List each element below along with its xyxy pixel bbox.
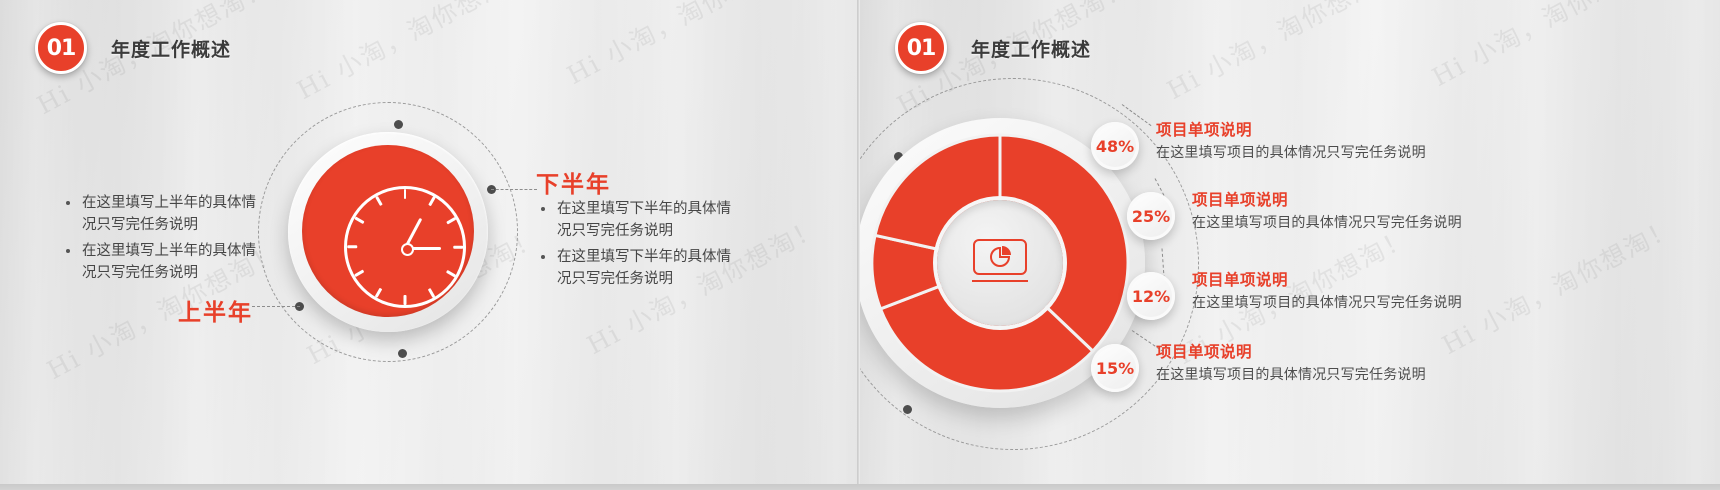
legend-item-2: 项目单项说明 在这里填写项目的具体情况只写完任务说明 <box>1192 188 1462 232</box>
label-second-half: 下半年 <box>536 165 611 199</box>
bullet-list-first-half: 在这里填写上半年的具体情况只写完任务说明 在这里填写上半年的具体情况只写完任务说… <box>62 192 257 288</box>
legend-item-1: 项目单项说明 在这里填写项目的具体情况只写完任务说明 <box>1156 118 1426 162</box>
pie-chart-icon <box>969 237 1031 289</box>
legend-item-desc: 在这里填写项目的具体情况只写完任务说明 <box>1192 292 1462 312</box>
section-number: 01 <box>907 36 936 61</box>
legend-item-title: 项目单项说明 <box>1192 188 1462 210</box>
percent-badge-4: 15% <box>1091 344 1139 392</box>
bullet-list-second-half: 在这里填写下半年的具体情况只写完任务说明 在这里填写下半年的具体情况只写完任务说… <box>537 198 732 294</box>
section-number-badge: 01 <box>895 22 947 74</box>
list-item: 在这里填写下半年的具体情况只写完任务说明 <box>537 198 732 243</box>
list-item: 在这里填写上半年的具体情况只写完任务说明 <box>62 192 257 237</box>
orbit-node-top <box>394 120 403 129</box>
percent-badge-1: 48% <box>1091 122 1139 170</box>
legend-item-title: 项目单项说明 <box>1156 118 1426 140</box>
watermark: Hi 小淘，淘你想淘！ <box>1435 208 1681 362</box>
clock-icon <box>288 132 488 332</box>
watermark: Hi 小淘，淘你想淘！ <box>1160 0 1406 107</box>
slide-right: Hi 小淘，淘你想淘！ Hi 小淘，淘你想淘！ Hi 小淘，淘你想淘！ Hi 小… <box>860 0 1720 484</box>
watermark: Hi 小淘，淘你想淘！ <box>1425 0 1671 94</box>
page-title: 年度工作概述 <box>971 35 1091 62</box>
label-first-half: 上半年 <box>178 293 253 327</box>
list-item: 在这里填写上半年的具体情况只写完任务说明 <box>62 240 257 285</box>
clock-hub <box>401 243 414 256</box>
donut-center <box>937 200 1063 326</box>
legend-item-title: 项目单项说明 <box>1156 340 1426 362</box>
percent-badge-3: 12% <box>1127 272 1175 320</box>
section-number-badge: 01 <box>35 22 87 74</box>
section-number: 01 <box>47 36 76 61</box>
slide-left: Hi 小淘，淘你想淘！ Hi 小淘，淘你想淘！ Hi 小淘，淘你想淘！ Hi 小… <box>0 0 858 484</box>
bottom-band <box>0 484 1720 490</box>
slide-header-right: 01 年度工作概述 <box>860 22 1091 74</box>
legend-item-3: 项目单项说明 在这里填写项目的具体情况只写完任务说明 <box>1192 268 1462 312</box>
watermark: Hi 小淘，淘你想淘！ <box>290 0 536 107</box>
slide-deck: Hi 小淘，淘你想淘！ Hi 小淘，淘你想淘！ Hi 小淘，淘你想淘！ Hi 小… <box>0 0 1720 490</box>
clock-dial <box>344 186 466 308</box>
list-item: 在这里填写下半年的具体情况只写完任务说明 <box>537 246 732 291</box>
page-title: 年度工作概述 <box>111 35 231 62</box>
orbit-node-bottom <box>398 349 407 358</box>
watermark: Hi 小淘，淘你想淘！ <box>560 0 806 92</box>
legend-item-desc: 在这里填写项目的具体情况只写完任务说明 <box>1156 142 1426 162</box>
legend-item-4: 项目单项说明 在这里填写项目的具体情况只写完任务说明 <box>1156 340 1426 384</box>
legend-item-title: 项目单项说明 <box>1192 268 1462 290</box>
legend-item-desc: 在这里填写项目的具体情况只写完任务说明 <box>1192 212 1462 232</box>
slide-header-left: 01 年度工作概述 <box>35 22 231 74</box>
clock-face-red <box>302 145 474 317</box>
legend-item-desc: 在这里填写项目的具体情况只写完任务说明 <box>1156 364 1426 384</box>
percent-badge-2: 25% <box>1127 192 1175 240</box>
connector-line-right <box>491 189 537 190</box>
